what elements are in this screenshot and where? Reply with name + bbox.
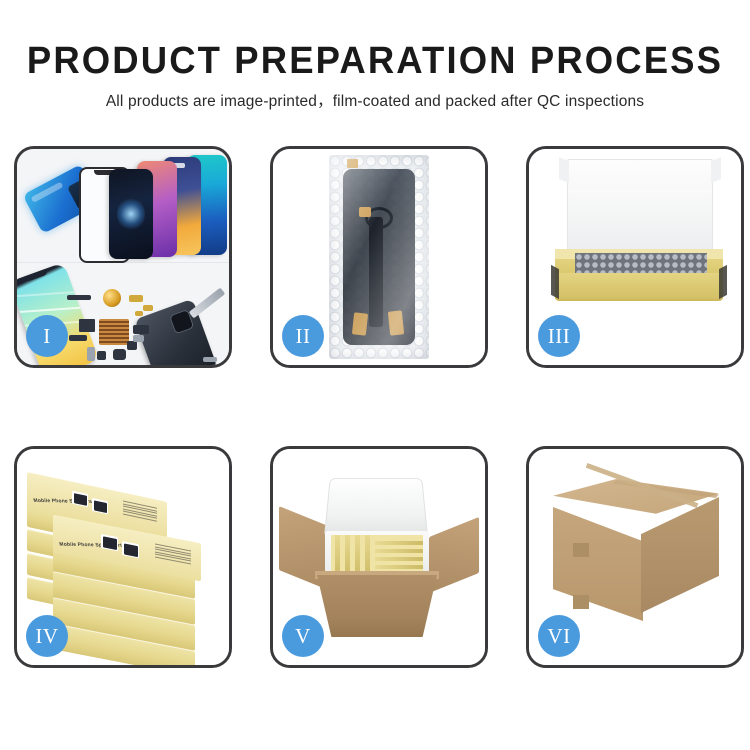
step-card-4[interactable]: Mobile Phone Spare Parts Mobile Phone Sp… xyxy=(14,446,232,668)
process-steps-grid: I II xyxy=(14,146,746,668)
tweezers-icon xyxy=(189,288,225,319)
carton-tab-lower-icon xyxy=(573,595,589,609)
spare-part-module-icon xyxy=(133,325,149,334)
step-card-2[interactable]: II xyxy=(270,146,488,368)
process-steps-row-2: Mobile Phone Spare Parts Mobile Phone Sp… xyxy=(14,446,746,668)
step-numeral-6: VI xyxy=(547,626,570,647)
page-title: PRODUCT PREPARATION PROCESS xyxy=(15,42,735,80)
gold-connector-2-icon xyxy=(143,305,153,311)
box-art-chip-front-2 xyxy=(122,541,139,558)
step-numeral-3: III xyxy=(548,326,570,347)
flex-cable-icon xyxy=(369,217,383,327)
metal-bracket-icon xyxy=(133,335,144,342)
step-card-1[interactable]: I xyxy=(14,146,232,368)
foam-lid-icon xyxy=(324,478,428,537)
spare-part-camera-icon xyxy=(113,349,126,360)
step-numeral-5: V xyxy=(295,626,311,647)
box-art-chip-front-1 xyxy=(101,534,118,551)
tape-marker-mid-icon xyxy=(359,207,371,217)
copper-shield-icon xyxy=(99,319,129,345)
step-badge-6: VI xyxy=(538,615,580,657)
speaker-coil-icon xyxy=(103,289,121,307)
gold-connector-3-icon xyxy=(135,311,143,316)
page-header: PRODUCT PREPARATION PROCESS All products… xyxy=(0,0,750,110)
box-corner-left-icon xyxy=(551,265,559,299)
bubble-wrap-bag-icon xyxy=(329,155,429,359)
step-badge-1: I xyxy=(26,315,68,357)
spare-part-flex-icon xyxy=(69,335,87,341)
box-spec-lines-rear xyxy=(123,501,157,524)
step-badge-4: IV xyxy=(26,615,68,657)
step-numeral-4: IV xyxy=(35,626,58,647)
step-card-5[interactable]: V xyxy=(270,446,488,668)
product-preparation-process-page: PRODUCT PREPARATION PROCESS All products… xyxy=(0,0,750,750)
step-numeral-1: I xyxy=(43,326,51,347)
box-art-chip-rear-2 xyxy=(92,498,108,514)
gold-connector-1-icon xyxy=(129,295,143,302)
carton-body-icon xyxy=(317,575,437,637)
tape-marker-top-icon xyxy=(347,159,358,168)
step-card-6[interactable]: VI xyxy=(526,446,744,668)
box-tray-front-icon xyxy=(555,273,723,299)
step-card-3[interactable]: III xyxy=(526,146,744,368)
box-spec-lines-front xyxy=(155,543,191,566)
carton-front-face-icon xyxy=(553,507,643,621)
page-subtitle: All products are image-printed，film-coat… xyxy=(0,94,750,110)
white-foam-sheet-icon xyxy=(569,189,711,251)
carton-side-face-icon xyxy=(641,497,719,613)
screw-set-icon xyxy=(203,357,217,362)
carton-flap-right-icon xyxy=(429,517,479,593)
spare-part-small-icon xyxy=(127,341,137,350)
process-steps-row-1: I II xyxy=(14,146,746,368)
step-badge-3: III xyxy=(538,315,580,357)
sim-tray-icon xyxy=(87,347,95,361)
spare-part-button-icon xyxy=(97,351,106,360)
connector-right-icon xyxy=(388,310,404,335)
step-badge-2: II xyxy=(282,315,324,357)
carton-tab-upper-icon xyxy=(573,543,589,557)
connector-left-icon xyxy=(352,312,368,335)
spare-part-strip-icon xyxy=(67,295,91,300)
box-corner-right-icon xyxy=(719,265,727,299)
step-badge-5: V xyxy=(282,615,324,657)
step-numeral-2: II xyxy=(296,326,311,347)
spare-part-chip-icon xyxy=(79,319,95,332)
box-label-text-rear: Mobile Phone Spare Parts xyxy=(33,498,99,505)
phone-device-1-icon xyxy=(109,169,153,259)
